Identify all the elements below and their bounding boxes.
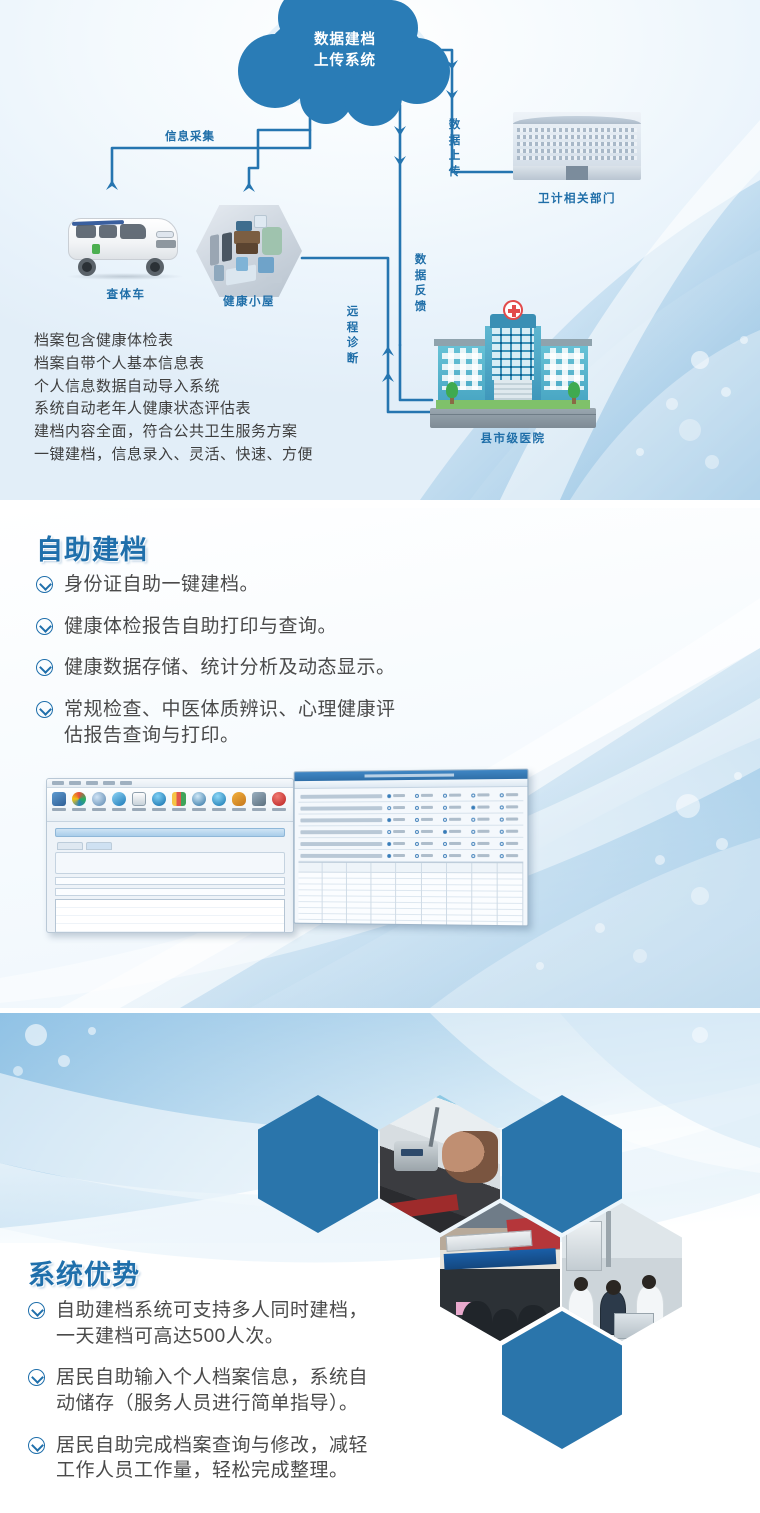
assessment-form[interactable] xyxy=(295,787,528,926)
county-hospital-image xyxy=(430,300,596,428)
flow-label-upload-line1: 数据 xyxy=(443,118,467,149)
chevron-down-circle-icon xyxy=(36,659,53,676)
section-heading-system-advantages: 系统优势 xyxy=(28,1253,140,1292)
feature-line: 一键建档，信息录入、灵活、快速、方便 xyxy=(34,444,313,467)
toolbar-button xyxy=(190,791,208,811)
feature-line: 系统自动老年人健康状态评估表 xyxy=(34,398,313,421)
inspection-van-label: 查体车 xyxy=(64,286,188,302)
list-item: 身份证自助一键建档。 xyxy=(36,572,506,598)
toolbar[interactable] xyxy=(47,788,293,822)
menu-bar[interactable] xyxy=(47,779,293,788)
feature-line: 档案自带个人基本信息表 xyxy=(34,353,313,376)
list-item-line: 一天建档可高达500人次。 xyxy=(56,1324,458,1350)
list-item-line: 居民自助完成档案查询与修改，减轻 xyxy=(56,1435,368,1456)
chevron-down-circle-icon xyxy=(28,1369,45,1386)
list-item-line: 健康体检报告自助打印与查询。 xyxy=(64,616,337,637)
toolbar-button xyxy=(70,791,88,811)
list-item: 常规检查、中医体质辨识、心理健康评 估报告查询与打印。 xyxy=(36,697,506,748)
flow-label-remote: 远程 诊断 xyxy=(341,305,365,367)
chevron-down-circle-icon xyxy=(36,618,53,635)
flow-label-feedback: 数据 反馈 xyxy=(409,253,433,315)
feature-line-list: 档案包含健康体检表 档案自带个人基本信息表 个人信息数据自动导入系统 系统自动老… xyxy=(34,330,313,467)
list-item: 健康数据存储、统计分析及动态显示。 xyxy=(36,655,506,681)
flow-label-remote-line2: 诊断 xyxy=(341,336,365,367)
list-item: 健康体检报告自助打印与查询。 xyxy=(36,614,506,640)
toolbar-button xyxy=(270,791,288,811)
chevron-down-circle-icon xyxy=(36,701,53,718)
question-row xyxy=(298,813,523,826)
cloud-label: 数据建档 上传系统 xyxy=(262,30,428,72)
toolbar-button xyxy=(250,791,268,811)
question-row xyxy=(298,850,523,862)
health-authority-image xyxy=(513,112,641,180)
feature-line: 档案包含健康体检表 xyxy=(34,330,313,353)
list-item-line: 常规检查、中医体质辨识、心理健康评 xyxy=(64,699,396,720)
list-item-line: 工作人员工作量，轻松完成整理。 xyxy=(56,1458,458,1484)
elderly-assessment-form-window[interactable] xyxy=(294,769,529,927)
chevron-down-circle-icon xyxy=(28,1437,45,1454)
chevron-down-circle-icon xyxy=(28,1302,45,1319)
toolbar-button xyxy=(50,791,68,811)
top-gradient-band xyxy=(0,1013,760,1243)
toolbar-button xyxy=(150,791,168,811)
system-advantages-bullet-list: 自助建档系统可支持多人同时建档， 一天建档可高达500人次。 居民自助输入个人档… xyxy=(28,1298,458,1500)
flow-label-feedback-line2: 反馈 xyxy=(409,284,433,315)
self-service-archiving-section: 自助建档 身份证自助一键建档。 健康体检报告自助打印与查询。 健康数据存储、统计… xyxy=(0,508,760,1008)
flow-label-upload: 数据 上传 xyxy=(443,118,467,180)
list-item-line: 估报告查询与打印。 xyxy=(64,723,506,749)
health-authority-label: 卫计相关部门 xyxy=(513,190,641,206)
list-item-line: 居民自助输入个人档案信息，系统自 xyxy=(56,1367,368,1388)
list-item-line: 自助建档系统可支持多人同时建档， xyxy=(56,1300,368,1321)
list-item-line: 健康数据存储、统计分析及动态显示。 xyxy=(64,657,396,678)
table-body xyxy=(298,872,523,927)
list-item: 居民自助完成档案查询与修改，减轻 工作人员工作量，轻松完成整理。 xyxy=(28,1433,458,1484)
list-item: 居民自助输入个人档案信息，系统自 动储存（服务人员进行简单指导）。 xyxy=(28,1365,458,1416)
inner-window-title-bar xyxy=(55,828,285,837)
toolbar-button xyxy=(170,791,188,811)
data-grid[interactable] xyxy=(55,899,285,933)
inspection-van-image xyxy=(64,212,188,278)
feature-line: 建档内容全面，符合公共卫生服务方案 xyxy=(34,421,313,444)
toolbar-button xyxy=(230,791,248,811)
diagram-section: 数据建档 上传系统 信息采集 数据 上传 数据 反馈 远程 诊断 查体车 健康小… xyxy=(0,0,760,500)
toolbar-button xyxy=(90,791,108,811)
table-header-row xyxy=(298,862,523,873)
self-service-bullet-list: 身份证自助一键建档。 健康体检报告自助打印与查询。 健康数据存储、统计分析及动态… xyxy=(36,572,506,764)
section-heading-self-service: 自助建档 xyxy=(36,528,148,567)
query-field-row-2[interactable] xyxy=(55,888,285,896)
health-cabin-label: 健康小屋 xyxy=(196,293,302,309)
list-item-line: 动储存（服务人员进行简单指导）。 xyxy=(56,1391,458,1417)
health-cabin-image xyxy=(196,205,302,297)
archive-management-window[interactable] xyxy=(46,778,294,933)
feature-line: 个人信息数据自动导入系统 xyxy=(34,376,313,399)
system-advantages-section: 系统优势 自助建档系统可支持多人同时建档， 一天建档可高达500人次。 居民自助… xyxy=(0,1013,760,1513)
cloud-label-line1: 数据建档 xyxy=(262,30,428,51)
cloud-label-line2: 上传系统 xyxy=(262,51,428,72)
red-cross-icon xyxy=(503,300,523,320)
hex-solid-right-bottom xyxy=(502,1311,622,1449)
tab-strip[interactable] xyxy=(57,842,283,850)
list-item-line: 身份证自助一键建档。 xyxy=(64,574,259,595)
question-row xyxy=(298,838,523,850)
toolbar-button xyxy=(110,791,128,811)
flow-label-remote-line1: 远程 xyxy=(341,305,365,336)
chevron-down-circle-icon xyxy=(36,576,53,593)
query-field-row[interactable] xyxy=(55,877,285,885)
flow-label-upload-line2: 上传 xyxy=(443,149,467,180)
county-hospital-label: 县市级医院 xyxy=(430,430,596,446)
toolbar-button xyxy=(130,791,148,811)
flow-label-feedback-line1: 数据 xyxy=(409,253,433,284)
list-item: 自助建档系统可支持多人同时建档， 一天建档可高达500人次。 xyxy=(28,1298,458,1349)
question-row xyxy=(298,826,523,839)
flow-label-collect: 信息采集 xyxy=(165,130,215,146)
question-row xyxy=(298,801,523,814)
toolbar-button xyxy=(210,791,228,811)
filter-panel[interactable] xyxy=(55,852,285,874)
